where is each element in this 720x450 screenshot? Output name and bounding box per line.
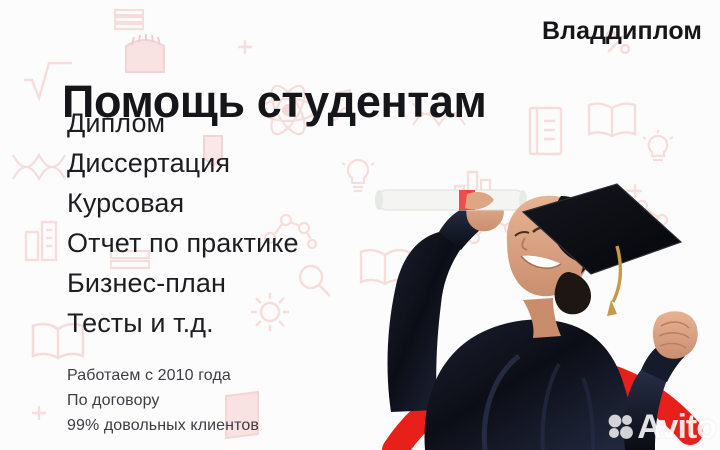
open-book-icon <box>586 98 638 142</box>
advertisement-banner: Владдиплом Помощь студентам Диплом Диссе… <box>0 0 720 450</box>
fact-item: По договору <box>67 388 259 413</box>
dna-helix-icon <box>10 152 68 182</box>
avito-watermark: Avito <box>608 410 716 444</box>
list-item: Бизнес-план <box>67 263 299 303</box>
open-book-icon <box>122 32 168 76</box>
avito-watermark-label: Avito <box>637 410 716 444</box>
brand-name: Владдиплом <box>542 17 702 46</box>
list-item: Диссертация <box>67 143 299 183</box>
list-item: Диплом <box>67 103 299 143</box>
list-item: Курсовая <box>67 183 299 223</box>
avito-dots-icon <box>608 414 634 440</box>
list-item: Отчет по практике <box>67 223 299 263</box>
facts-list: Работаем с 2010 года По договору 99% дов… <box>67 363 259 438</box>
plus-icon <box>236 38 254 56</box>
raised-fist-icon <box>653 311 698 359</box>
fact-item: Работаем с 2010 года <box>67 363 259 388</box>
magnifier-icon <box>296 262 334 300</box>
services-list: Диплом Диссертация Курсовая Отчет по пра… <box>67 103 299 343</box>
graduate-student-photo <box>355 150 720 450</box>
diploma-scroll-icon <box>375 190 527 210</box>
list-item: Тесты и т.д. <box>67 303 299 343</box>
building-icon <box>22 218 62 262</box>
fact-item: 99% довольных клиентов <box>67 413 259 438</box>
plus-icon <box>30 404 48 422</box>
book-stack-icon <box>112 4 146 34</box>
